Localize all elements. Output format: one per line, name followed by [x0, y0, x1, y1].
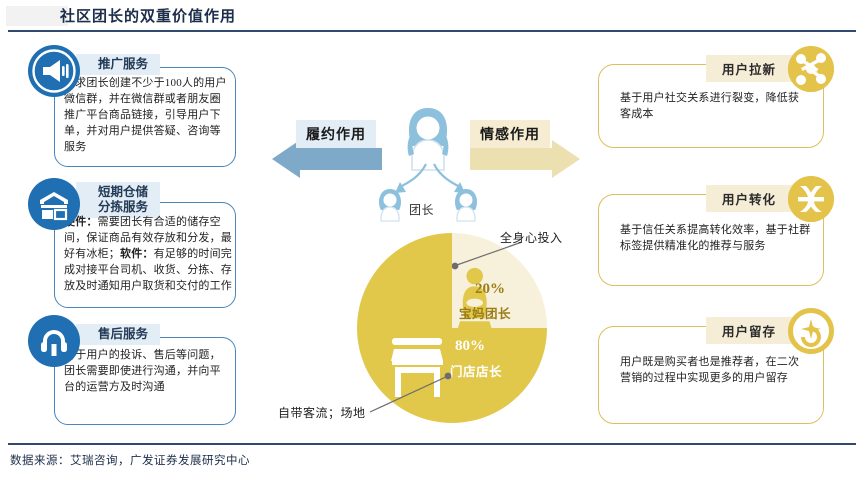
left-arrow-label: 履约作用: [296, 120, 376, 148]
right-card-2-body: 基于信任关系提高转化效率，基于社群标签提供精准化的推荐与服务: [620, 222, 812, 254]
leader-caption: 团长: [409, 201, 434, 218]
right-card-conversion: 用户转化 基于信任关系提高转化效率，基于社群标签提供精准化的推荐与服务: [598, 176, 836, 288]
left-card-aftersales: 售后服务 对于用户的投诉、售后等问题，团长需要即使进行沟通，并向平台的运营方及时…: [28, 315, 248, 430]
callout-top-label: 全身心投入: [500, 229, 563, 246]
page-title: 社区团长的双重价值作用: [60, 5, 236, 26]
pie-label-80-value: 80%: [455, 338, 485, 355]
pie-label-20-value: 20%: [475, 281, 505, 298]
callout-bottom-label: 自带客流；场地: [278, 404, 366, 421]
left-card-2-body: 硬件：需要团长有合适的储存空间，保证商品有效存放和分发，最好有冰柜；软件：有足够…: [64, 214, 232, 294]
body-segment-software-label: 软件：: [120, 248, 154, 260]
infographic-page: 社区团长的双重价值作用 推广服务 要求团长创建不少于100人的用户微信群，并在微…: [0, 0, 864, 477]
share-nodes-icon: [788, 46, 834, 92]
shuffle-icon: [788, 176, 834, 222]
left-card-3-body: 对于用户的投诉、售后等问题，团长需要即使进行沟通，并向平台的运营方及时沟通: [64, 347, 230, 395]
left-card-1-title: 推广服务: [76, 54, 160, 75]
watermark: [6, 6, 68, 26]
left-card-1-body: 要求团长创建不少于100人的用户微信群，并在微信群或者朋友圈推广平台商品链接，引…: [64, 75, 230, 155]
warehouse-icon: [28, 178, 80, 230]
right-card-3-body: 用户既是购买者也是推荐者，在二次营销的过程中实现更多的用户留存: [620, 354, 808, 386]
megaphone-icon: [28, 45, 80, 97]
retention-refresh-icon: [788, 308, 834, 354]
left-card-promotion: 推广服务 要求团长创建不少于100人的用户微信群，并在微信群或者朋友圈推广平台商…: [28, 45, 248, 170]
right-card-1-body: 基于用户社交关系进行裂变，降低获客成本: [620, 90, 806, 122]
left-card-2-title: 短期仓储 分拣服务: [76, 182, 160, 218]
footer-divider: [8, 443, 856, 445]
headset-icon: [28, 315, 80, 367]
right-card-acquisition: 用户拉新 基于用户社交关系进行裂变，降低获客成本: [598, 46, 836, 150]
left-card-3-title: 售后服务: [76, 324, 160, 345]
person-member-icon: [449, 188, 483, 222]
left-card-storage: 短期仓储 分拣服务 硬件：需要团长有合适的储存空间，保证商品有效存放和分发，最好…: [28, 178, 248, 310]
pie-label-20-category: 宝妈团长: [459, 303, 511, 322]
source-note: 数据来源：艾瑞咨询，广发证券发展研究中心: [10, 452, 250, 468]
person-member-icon: [373, 188, 407, 222]
right-card-retention: 用户留存 用户既是购买者也是推荐者，在二次营销的过程中实现更多的用户留存: [598, 308, 836, 426]
title-divider: [8, 30, 856, 32]
right-arrow-label: 情感作用: [470, 120, 550, 148]
pie-label-80-category: 门店店长: [450, 361, 502, 380]
